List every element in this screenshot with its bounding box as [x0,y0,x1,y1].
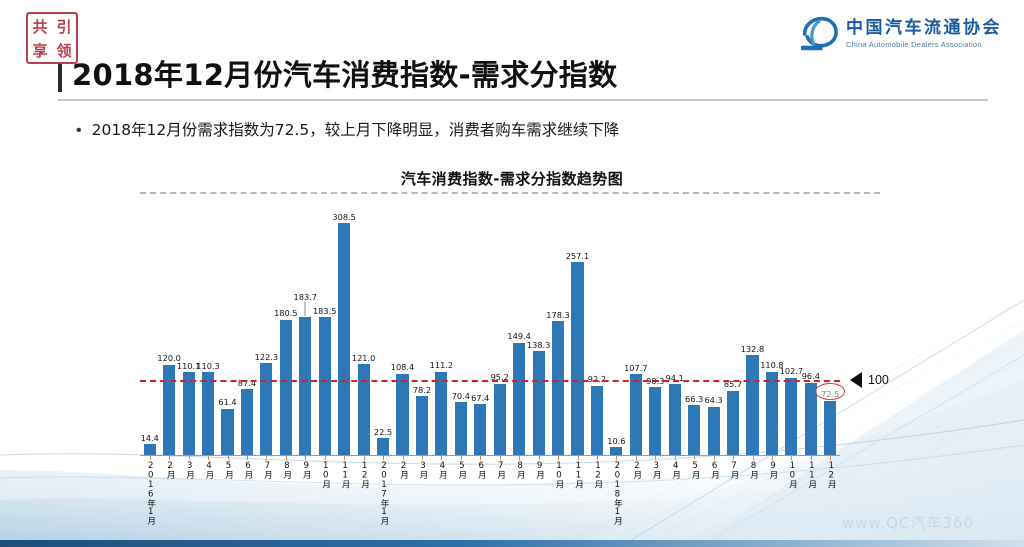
x-axis-label: 4月 [436,461,448,479]
bar-value-label: 108.4 [391,362,414,372]
x-axis-tick [266,455,267,460]
x-axis-label: 9月 [534,461,546,479]
x-axis-label: 3月 [184,461,196,479]
chart-bar: 111.2 [435,372,447,455]
chart-bar: 308.5 [338,223,350,455]
bar-rect [746,355,758,455]
x-axis-label: 4月 [670,461,682,479]
x-axis-tick [733,455,734,460]
footer-accent-bar [0,540,1024,547]
chart-plot-area: 14.4120.0110.1110.361.487.4122.3180.5183… [140,196,840,455]
chart-bar: 110.1 [183,372,195,455]
bar-rect [163,365,175,455]
summary-bullet-text: 2018年12月份需求指数为72.5，较上月下降明显，消费者购车需求继续下降 [92,118,620,140]
logo-name-en: China Automobile Dealers Association [846,40,1002,49]
bar-rect [533,351,545,455]
x-axis-label: 7月 [495,461,507,479]
chart-bar: 108.4 [396,374,408,455]
bar-rect [494,384,506,455]
chart-bar: 66.3 [688,405,700,455]
bar-value-label: 102.7 [780,366,803,376]
bar-rect [260,363,272,455]
x-axis-label: 3月 [650,461,662,479]
cada-swoosh-icon [799,16,839,52]
chart-bar: 178.3 [552,321,564,455]
chart-bar: 138.3 [533,351,545,455]
x-axis-label: 8月 [514,461,526,479]
x-axis-label: 5月 [689,461,701,479]
bar-value-label: 66.3 [685,394,703,404]
x-axis-label: 10月 [786,461,798,488]
chart-bar: 70.4 [455,402,467,455]
x-axis-tick [578,455,579,460]
x-axis-label: 2月 [398,461,410,479]
bar-rect [144,444,156,455]
bar-value-label: 180.5 [274,308,297,318]
chart-bar: 94.1 [669,384,681,455]
x-axis-tick [150,455,151,460]
chart-bar: 121.0 [358,364,370,455]
bar-rect [649,387,661,455]
x-axis-label: 11月 [339,461,351,488]
bar-rect [708,407,720,455]
bar-value-label: 22.5 [374,427,392,437]
seal-char-3: 享 [28,38,52,62]
x-axis-tick [616,455,617,460]
x-axis-label: 12月 [825,461,837,488]
chart-bar: 102.7 [785,378,797,455]
x-axis-label: 11月 [806,461,818,488]
x-axis-label: 10月 [320,461,332,488]
bar-rect [183,372,195,455]
x-axis-label: 6月 [475,461,487,479]
x-axis-label: 3月 [417,461,429,479]
bar-value-label: 122.3 [255,352,278,362]
bar-rect [688,405,700,455]
bar-value-label: 110.3 [196,361,219,371]
chart-title: 汽车消费指数-需求分指数趋势图 [0,168,1024,189]
logo-name-cn: 中国汽车流通协会 [846,19,1002,39]
chart-bar: 22.5 [377,438,389,455]
chart-bar: 122.3 [260,363,272,455]
association-logo: 中国汽车流通协会 China Automobile Dealers Associ… [799,16,1002,52]
x-axis-label: 6月 [709,461,721,479]
chart-x-axis [140,455,840,456]
chart-bar: 10.6 [610,447,622,455]
reference-line-marker: 100 [850,372,889,388]
x-axis-label: 8月 [281,461,293,479]
x-axis-label: 9月 [300,461,312,479]
bar-value-label: 183.7 [294,292,317,302]
chart-bar: 67.4 [474,404,486,455]
x-axis-label: 2月 [164,461,176,479]
bar-value-label: 111.2 [430,360,453,370]
x-axis-label: 5月 [456,461,468,479]
x-axis-tick [597,455,598,460]
x-axis-tick [694,455,695,460]
x-axis-tick [286,455,287,460]
x-axis-label: 4月 [203,461,215,479]
summary-bullet: • 2018年12月份需求指数为72.5，较上月下降明显，消费者购车需求继续下降 [76,118,619,140]
x-axis-tick [422,455,423,460]
bar-value-label: 10.6 [607,436,625,446]
bar-value-label: 257.1 [566,251,589,261]
chart-bar: 92.2 [591,386,603,455]
x-axis-tick [519,455,520,460]
chart-bar: 183.7 [299,317,311,455]
x-axis-tick [753,455,754,460]
x-axis-label: 12月 [359,461,371,488]
chart-bar: 95.2 [494,384,506,455]
chart-bar: 110.8 [766,372,778,455]
bar-value-label: 14.4 [141,433,159,443]
bar-rect [513,343,525,455]
bar-value-label: 138.3 [527,340,550,350]
x-axis-tick [636,455,637,460]
bar-value-label: 178.3 [546,310,569,320]
x-axis-tick [325,455,326,460]
company-seal-stamp: 共 引 享 领 [26,12,78,64]
chart-bar: 78.2 [416,396,428,455]
bar-rect [221,409,233,455]
chart-bar: 180.5 [280,320,292,456]
x-axis-tick [480,455,481,460]
bar-value-label: 308.5 [332,212,355,222]
bar-rect [824,401,836,455]
chart-bar: 132.8 [746,355,758,455]
x-axis-tick [228,455,229,460]
chart-bar: 257.1 [571,262,583,455]
x-axis-label: 6月 [242,461,254,479]
bar-rect [338,223,350,455]
bar-value-label: 78.2 [413,385,431,395]
bar-rect [727,391,739,455]
bar-rect [299,317,311,455]
x-axis-label: 2017年1月 [378,461,390,525]
reference-line-label: 100 [868,373,889,387]
x-axis-tick [714,455,715,460]
x-axis-tick [558,455,559,460]
triangle-pointer-icon [850,372,862,388]
bar-rect [591,386,603,455]
highlighted-value-outline [815,383,845,400]
chart-bar: 85.7 [727,391,739,455]
bar-value-label: 132.8 [741,344,764,354]
bar-rect [552,321,564,455]
bar-rect [669,384,681,455]
bar-rect [319,317,331,455]
bar-rect [571,262,583,455]
x-axis-tick [344,455,345,460]
chart-bar: 90.3 [649,387,661,455]
bar-value-label: 121.0 [352,353,375,363]
bar-rect [610,447,622,455]
x-axis-label: 11月 [573,461,585,488]
x-axis-label: 8月 [748,461,760,479]
bar-value-label: 67.4 [471,393,489,403]
bar-rect [455,402,467,455]
chart-bar: 14.4 [144,444,156,455]
x-axis-tick [383,455,384,460]
bar-rect [435,372,447,455]
x-axis-tick [811,455,812,460]
chart-bar: 149.4 [513,343,525,455]
x-axis-label: 2016年1月 [145,461,157,525]
x-axis-tick [208,455,209,460]
x-axis-tick [189,455,190,460]
bar-rect [630,374,642,455]
bar-rect [785,378,797,455]
bar-rect [377,438,389,455]
x-axis-tick [655,455,656,460]
chart-bar: 61.4 [221,409,233,455]
x-axis-label: 12月 [592,461,604,488]
x-axis-tick [305,455,306,460]
reference-line-100 [140,380,840,382]
chart-bar: 107.7 [630,374,642,455]
bar-value-label: 64.3 [704,395,722,405]
chart-bar: 120.0 [163,365,175,455]
bullet-marker-icon: • [76,123,82,139]
bar-rect [474,404,486,455]
bar-value-label: 107.7 [624,363,647,373]
x-axis-tick [500,455,501,460]
seal-char-1: 共 [28,14,52,38]
label-leader-line [305,302,306,316]
x-axis-tick [247,455,248,460]
bar-rect [202,372,214,455]
bar-rect [416,396,428,455]
page-title: 2018年12月份汽车消费指数-需求分指数 [72,52,617,94]
bar-rect [766,372,778,455]
x-axis-label: 2月 [631,461,643,479]
chart-bar: 64.3 [708,407,720,455]
chart-bar: 183.5 [319,317,331,455]
x-axis-label: 2018年1月 [611,461,623,525]
seal-char-4: 领 [52,38,76,62]
bar-rect [396,374,408,455]
x-axis-tick [441,455,442,460]
x-axis-label: 9月 [767,461,779,479]
x-axis-tick [830,455,831,460]
x-axis-label: 10月 [553,461,565,488]
chart-bar: 87.4 [241,389,253,455]
bar-rect [280,320,292,456]
chart-bar: 110.3 [202,372,214,455]
x-axis-tick [403,455,404,460]
x-axis-tick [461,455,462,460]
x-axis-label: 5月 [223,461,235,479]
seal-char-2: 引 [52,14,76,38]
x-axis-label: 7月 [261,461,273,479]
bar-rect [358,364,370,455]
bar-value-label: 61.4 [218,397,236,407]
x-axis-label: 7月 [728,461,740,479]
bar-rect [241,389,253,455]
x-axis-tick [169,455,170,460]
x-axis-tick [364,455,365,460]
x-axis-tick [791,455,792,460]
bar-value-label: 70.4 [452,391,470,401]
x-axis-tick [675,455,676,460]
x-axis-tick [772,455,773,460]
x-axis-tick [539,455,540,460]
bar-value-label: 183.5 [313,306,336,316]
chart-bar: 72.5 [824,401,836,455]
